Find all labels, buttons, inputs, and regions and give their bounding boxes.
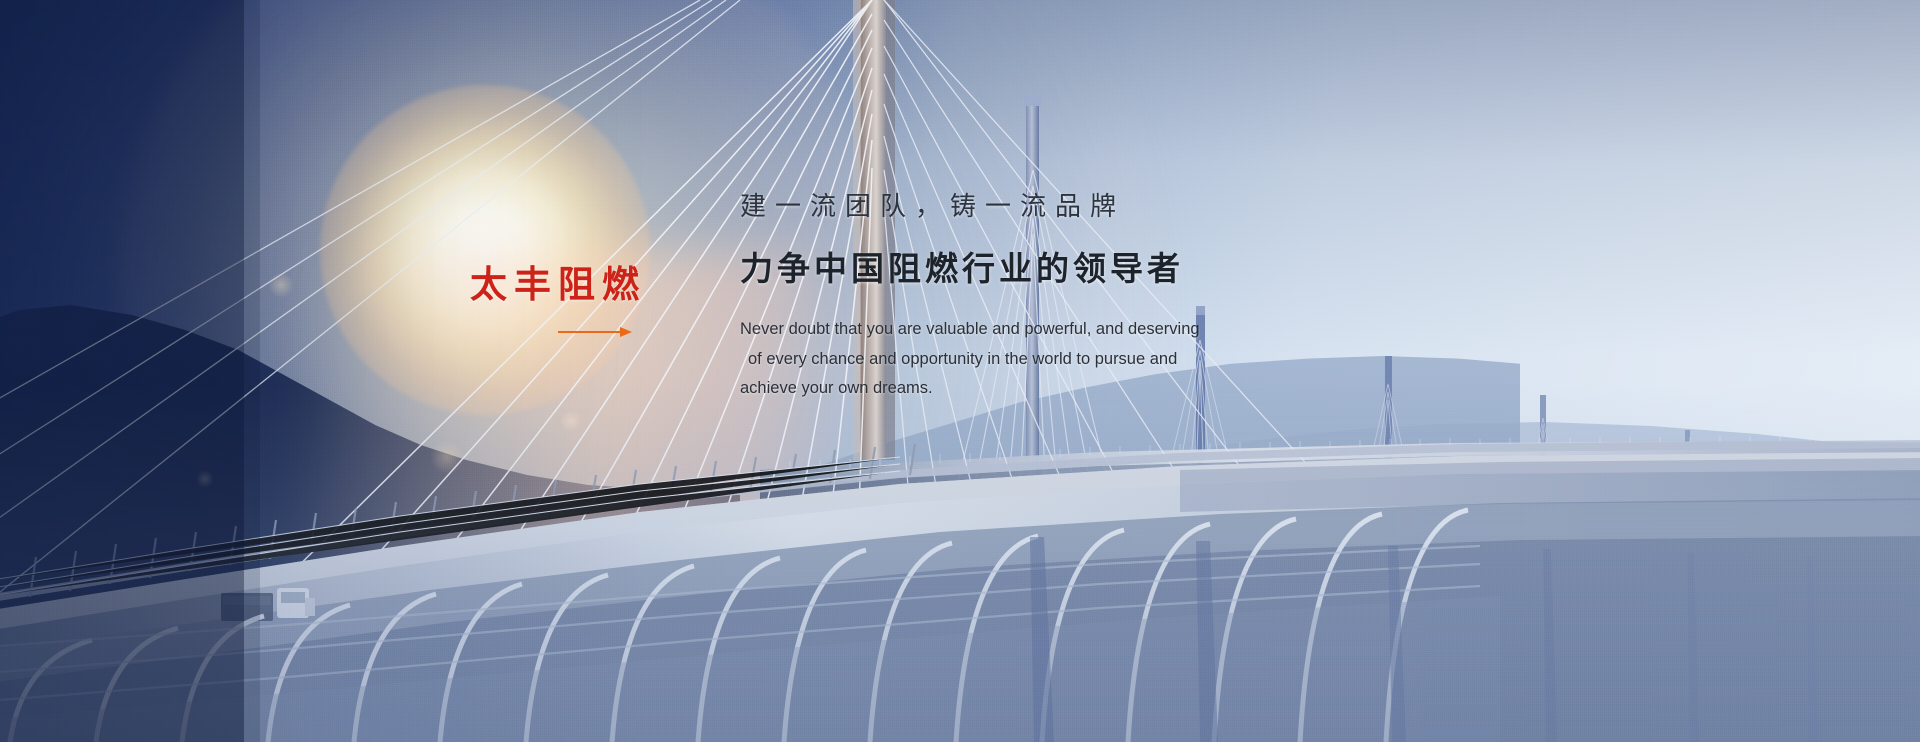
image-grain <box>0 0 1920 742</box>
hero-banner: 太丰阻燃 建一流团队，铸一流品牌 力争中国阻燃行业的领导者 Never doub… <box>0 0 1920 742</box>
